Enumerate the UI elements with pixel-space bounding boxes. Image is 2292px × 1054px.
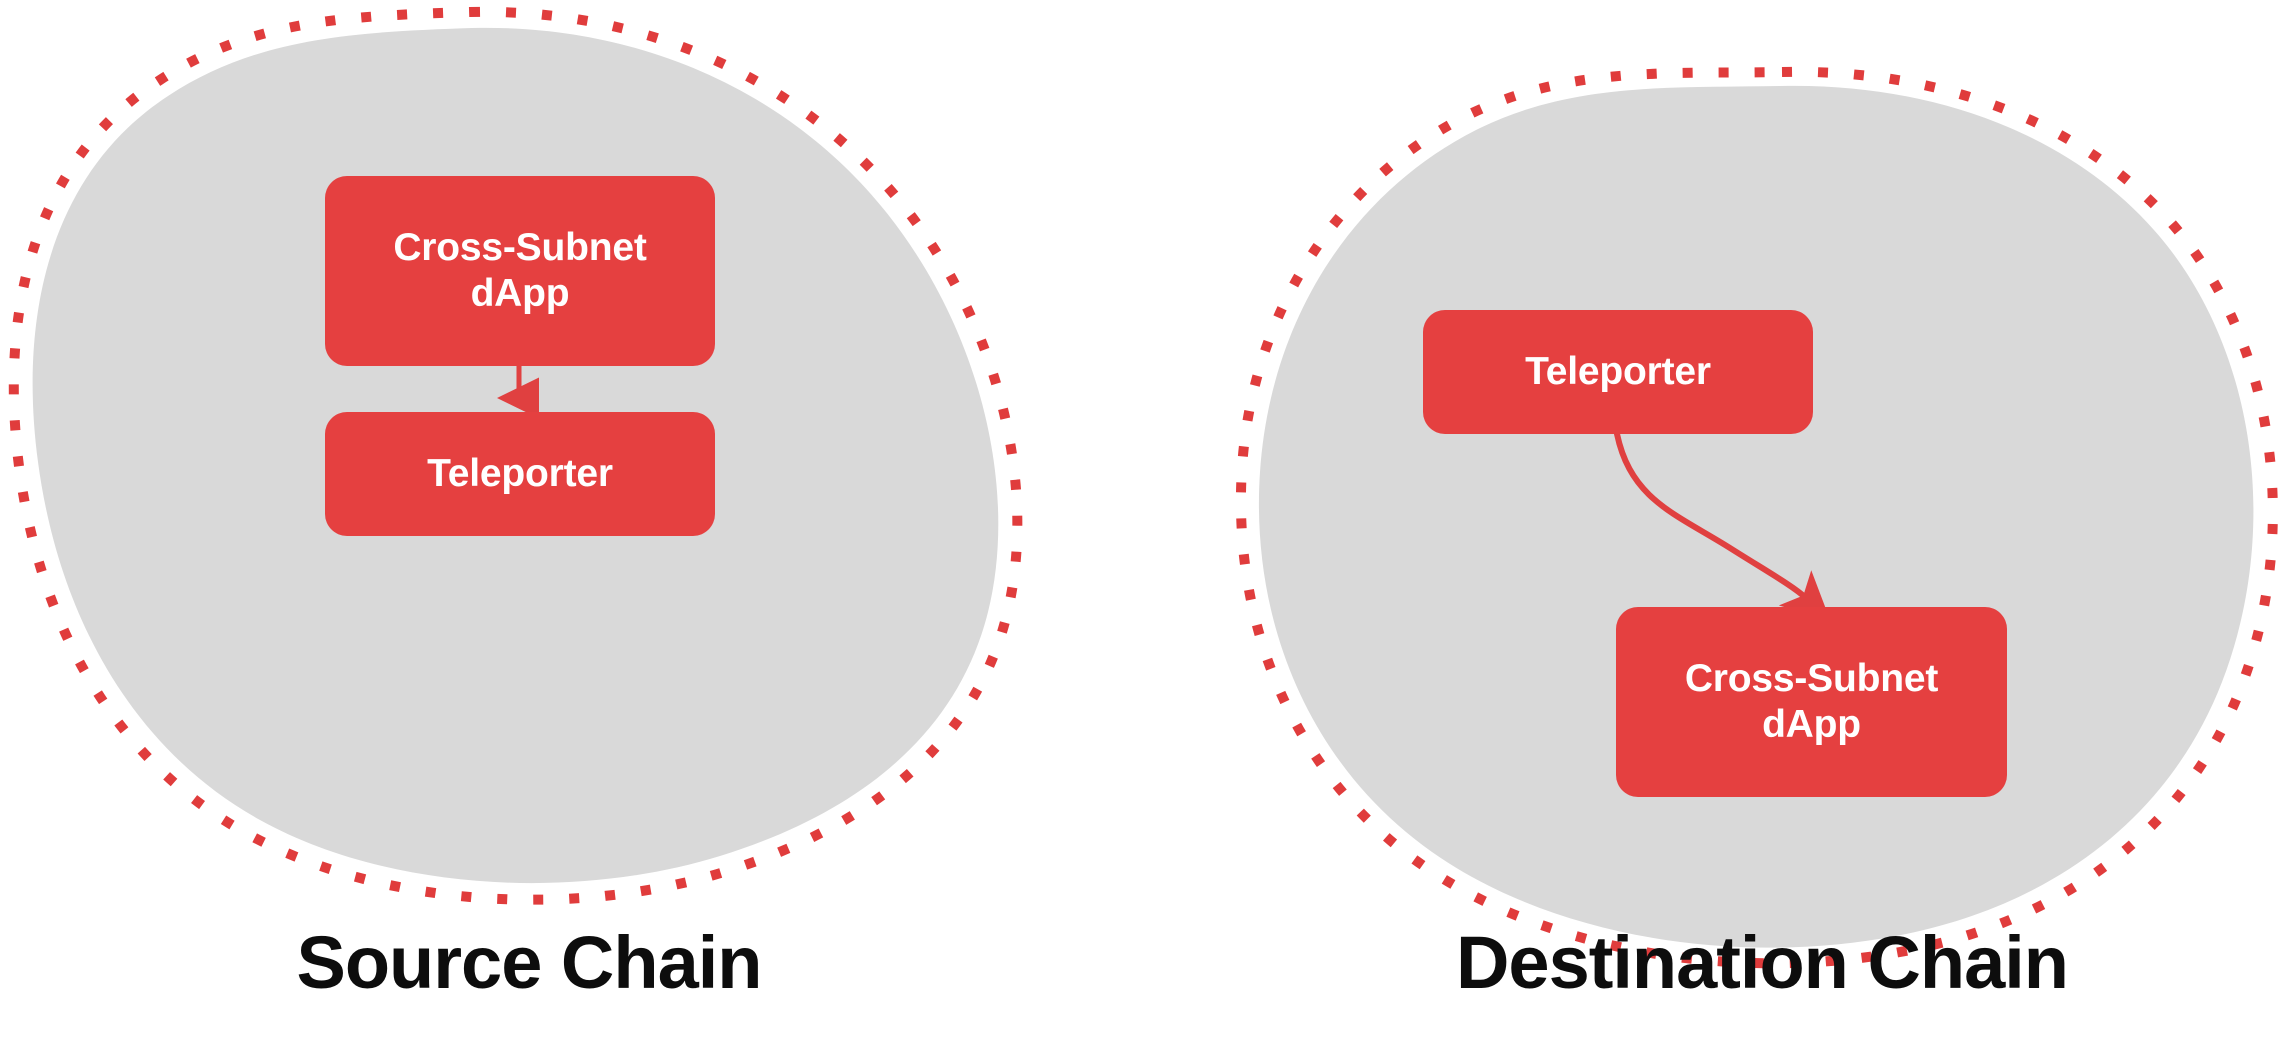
node-destination-cross-subnet-dapp[interactable]: Cross-Subnet dApp bbox=[1616, 607, 2007, 797]
destination-chain-region-fill bbox=[1259, 86, 2253, 948]
caption-source-chain: Source Chain bbox=[0, 926, 1058, 1000]
node-source-teleporter[interactable]: Teleporter bbox=[325, 412, 715, 536]
node-destination-teleporter[interactable]: Teleporter bbox=[1423, 310, 1813, 434]
caption-destination-chain: Destination Chain bbox=[1232, 926, 2292, 1000]
node-source-cross-subnet-dapp[interactable]: Cross-Subnet dApp bbox=[325, 176, 715, 366]
diagram-canvas: Cross-Subnet dApp Teleporter Teleporter … bbox=[0, 0, 2292, 1054]
destination-chain-region bbox=[1241, 72, 2273, 963]
